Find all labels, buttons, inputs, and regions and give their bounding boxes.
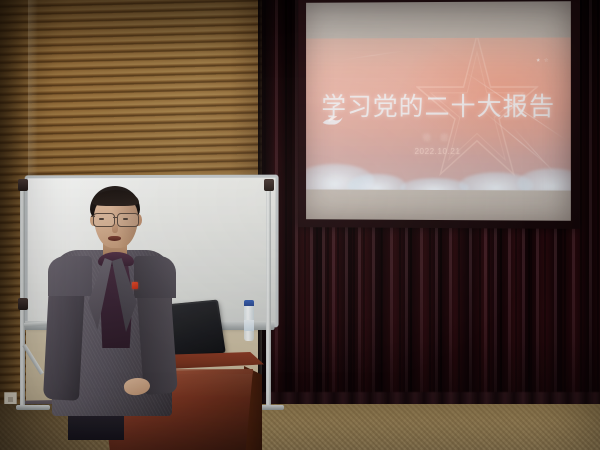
projection-screen-surface: ★ ☆ 学习党的二十大报告 徐 岩 2022.10.21 [306, 1, 571, 221]
whiteboard-stand-knob [264, 179, 274, 191]
projection-screen: ★ ☆ 学习党的二十大报告 徐 岩 2022.10.21 [298, 0, 580, 229]
whiteboard-stand-knob [18, 298, 28, 310]
light-streak [343, 51, 406, 61]
eyeglass-bridge [113, 217, 118, 218]
presenter-left-arm [43, 281, 85, 401]
eyeglass-temple [91, 216, 95, 217]
presenter-mouth [108, 236, 121, 241]
slide-date: 2022.10.21 [306, 147, 571, 157]
slide-corner-logo: ★ ☆ [536, 57, 550, 63]
photo-scene: ★ ☆ 学习党的二十大报告 徐 岩 2022.10.21 [0, 0, 600, 450]
cloud [348, 174, 406, 191]
whiteboard-stand-post [266, 183, 271, 409]
cloud [517, 168, 571, 190]
whiteboard-stand-brace [22, 344, 43, 375]
water-bottle-cap [244, 300, 254, 306]
slide-author: 徐 岩 [306, 132, 571, 143]
eyeglasses-icon [91, 213, 143, 225]
whiteboard-stand-post [20, 183, 25, 409]
whiteboard-stand-foot [16, 405, 50, 410]
screen-bottom-margin [306, 189, 571, 220]
whiteboard-stand-knob [18, 179, 28, 191]
presenter-shoulder-right [134, 256, 176, 298]
presenter-nose [112, 224, 118, 233]
water-bottle-label [244, 320, 254, 331]
eyeglass-lens-right [117, 213, 139, 227]
presenter-shoulder-left [48, 256, 92, 296]
party-emblem-pin [132, 282, 138, 289]
presentation-slide: ★ ☆ 学习党的二十大报告 徐 岩 2022.10.21 [306, 37, 571, 190]
screen-top-margin [306, 1, 571, 38]
slide-title: 学习党的二十大报告 [306, 86, 571, 122]
presenter [46, 186, 178, 416]
